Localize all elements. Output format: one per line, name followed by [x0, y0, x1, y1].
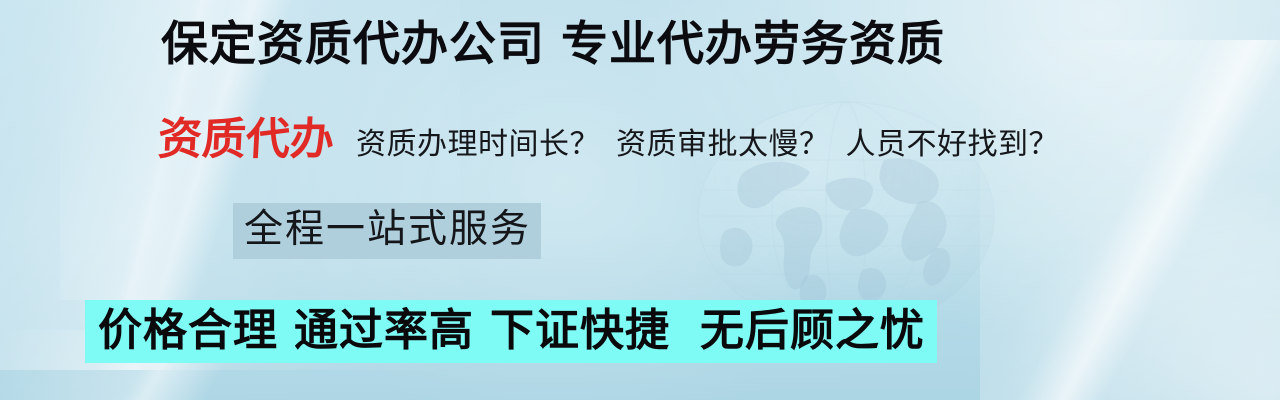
pain-point-questions: 资质办理时间长？资质审批太慢？人员不好找到？ [356, 120, 1059, 170]
banner-title-part2: 专业代办劳务资质 [561, 17, 945, 70]
question-1: 资质办理时间长？ [356, 128, 600, 161]
service-promise-row: 全程一站式服务 [233, 203, 541, 259]
service-promise-highlight: 全程一站式服务 [233, 203, 541, 259]
question-2: 资质审批太慢？ [616, 128, 830, 161]
benefit-2: 通过率高 [294, 306, 474, 355]
benefit-3: 下证快捷 [490, 306, 670, 355]
benefits-highlight: 价格合理通过率高下证快捷无后顾之忧 [85, 300, 937, 363]
benefits-row: 价格合理通过率高下证快捷无后顾之忧 [85, 300, 937, 363]
diagonal-light-streak-right [980, 40, 1280, 400]
promo-banner: 保定资质代办公司专业代办劳务资质 资质代办 资质办理时间长？资质审批太慢？人员不… [0, 0, 1280, 400]
banner-title: 保定资质代办公司专业代办劳务资质 [161, 16, 945, 72]
benefit-1: 价格合理 [98, 306, 278, 355]
question-3: 人员不好找到？ [846, 128, 1060, 161]
banner-title-part1: 保定资质代办公司 [161, 17, 545, 70]
benefit-4: 无后顾之忧 [700, 306, 925, 355]
brand-label-red: 资质代办 [157, 115, 336, 165]
brand-and-questions-row: 资质代办 资质办理时间长？资质审批太慢？人员不好找到？ [158, 115, 1059, 170]
